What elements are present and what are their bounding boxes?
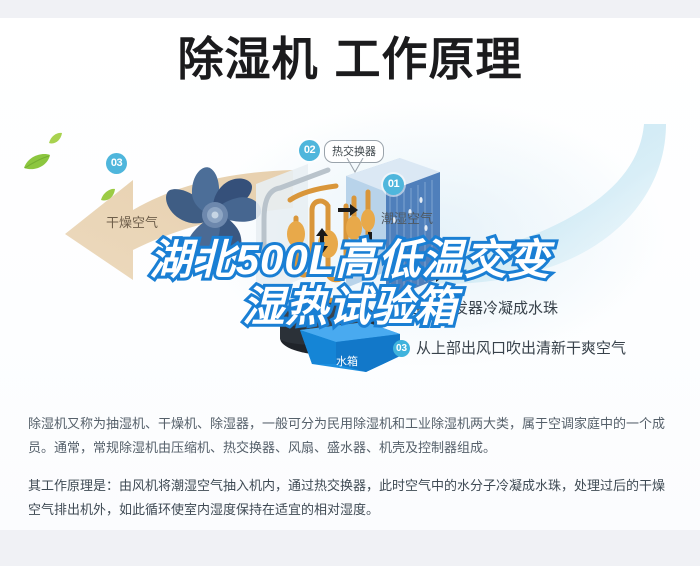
page-title: 除湿机工作原理 xyxy=(0,32,700,86)
badge-01-humid: 01 xyxy=(383,174,404,195)
title-part-2: 工作原理 xyxy=(335,33,523,85)
callout-stem xyxy=(345,158,365,179)
dry-air-label: 干燥空气 xyxy=(106,212,158,231)
watermark-line-1: 湖北500L高低温交变 xyxy=(0,236,700,283)
leaf-icon xyxy=(48,132,63,145)
badge-03-dry: 03 xyxy=(106,153,127,174)
watermark-overlay: 湖北500L高低温交变 湿热试验箱 xyxy=(0,236,700,330)
body-copy: 除湿机又称为抽湿机、干燥机、除湿器，一般可分为民用除湿机和工业除湿机两大类，属于… xyxy=(28,412,676,536)
leaf-icon xyxy=(100,188,116,202)
step-03-text: 从上部出风口吹出清新干爽空气 xyxy=(416,340,626,357)
body-paragraph-1: 除湿机又称为抽湿机、干燥机、除湿器，一般可分为民用除湿机和工业除湿机两大类，属于… xyxy=(28,412,676,460)
humid-air-label: 潮湿空气 xyxy=(381,208,433,227)
leaf-icon xyxy=(22,152,52,172)
watermark-line-2: 湿热试验箱 xyxy=(0,283,700,330)
step-caption-03: 03从上部出风口吹出清新干爽空气 xyxy=(393,337,626,358)
badge-02-exchanger: 02 xyxy=(299,140,320,161)
page-root: 除湿机工作原理 xyxy=(0,0,700,566)
step-03-badge: 03 xyxy=(393,340,410,357)
title-part-1: 除湿机 xyxy=(178,33,319,85)
body-paragraph-2: 其工作原理是：由风机将潮湿空气抽入机内，通过热交换器，此时空气中的水分子冷凝成水… xyxy=(28,474,676,522)
water-tank-label: 水箱 xyxy=(336,353,446,415)
